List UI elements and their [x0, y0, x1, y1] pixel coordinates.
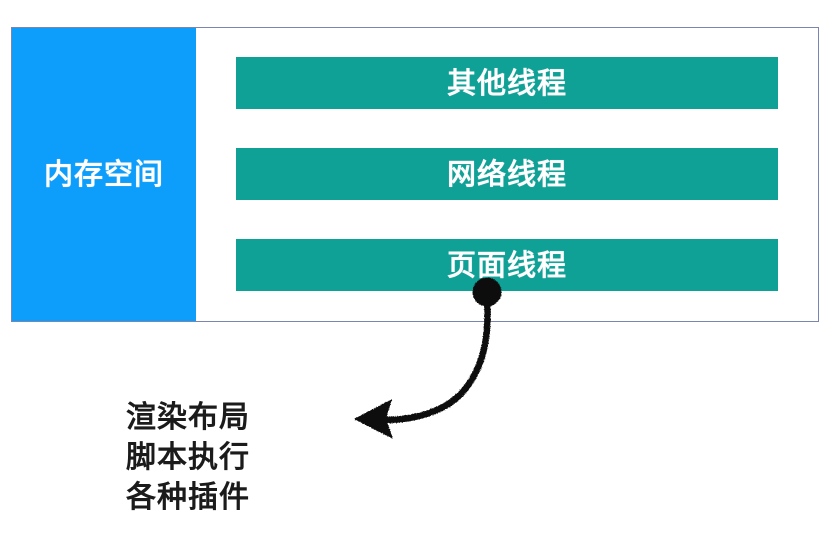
- memory-space-label: 内存空间: [44, 160, 164, 189]
- callout-line-plugins: 各种插件: [126, 478, 336, 518]
- callout-line-render-layout: 渲染布局: [126, 398, 336, 438]
- thread-bar-other: 其他线程: [236, 57, 778, 109]
- memory-space-panel: 内存空间: [12, 28, 196, 321]
- arrow-head: [354, 399, 393, 439]
- diagram-canvas: 内存空间 其他线程 网络线程 页面线程 渲染布局 脚本执行 各种插件: [0, 0, 840, 556]
- callout-line-script-execution: 脚本执行: [126, 438, 336, 478]
- thread-bar-page: 页面线程: [236, 239, 778, 291]
- annotation-callout-text: 渲染布局 脚本执行 各种插件: [126, 398, 336, 518]
- thread-bar-network: 网络线程: [236, 148, 778, 200]
- thread-label-network: 网络线程: [447, 160, 567, 189]
- thread-label-other: 其他线程: [447, 69, 567, 98]
- thread-label-page: 页面线程: [447, 251, 567, 280]
